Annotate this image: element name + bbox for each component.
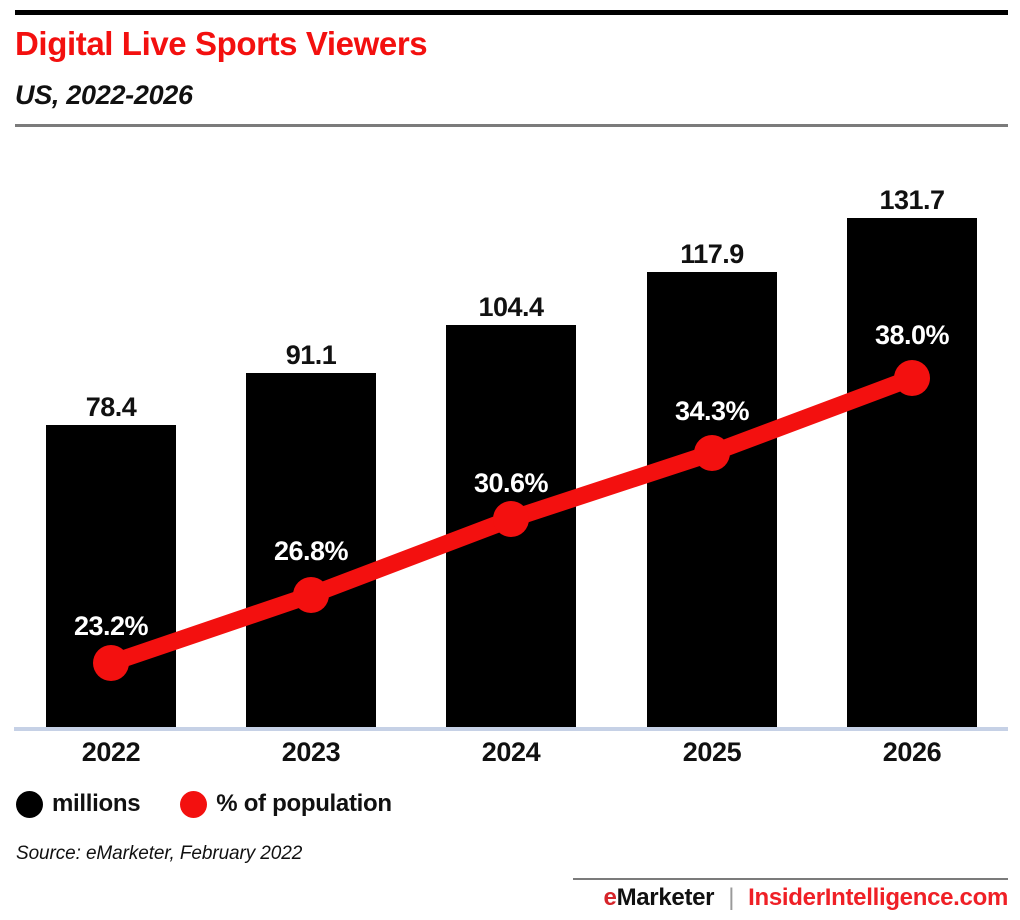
bar-2026 bbox=[847, 218, 977, 727]
bar-value-label: 91.1 bbox=[211, 340, 411, 371]
data-point-marker bbox=[894, 360, 930, 396]
data-point-marker bbox=[93, 645, 129, 681]
bar-value-label: 117.9 bbox=[612, 239, 812, 270]
percent-value-label: 23.2% bbox=[11, 611, 211, 642]
percent-value-label: 26.8% bbox=[211, 536, 411, 567]
legend-item-percent-of-population: % of population bbox=[180, 790, 391, 818]
x-axis-tick-2026: 2026 bbox=[812, 737, 1012, 768]
percent-trend-line bbox=[0, 0, 1020, 920]
percent-value-label: 38.0% bbox=[812, 320, 1012, 351]
x-axis-tick-2025: 2025 bbox=[612, 737, 812, 768]
percent-value-label: 34.3% bbox=[612, 396, 812, 427]
x-axis-tick-2024: 2024 bbox=[411, 737, 611, 768]
chart-legend: millions % of population bbox=[16, 790, 392, 818]
red-dot-icon bbox=[180, 791, 207, 818]
x-axis-tick-2023: 2023 bbox=[211, 737, 411, 768]
x-axis-line bbox=[14, 727, 1008, 731]
top-rule bbox=[15, 10, 1008, 15]
brand-site-link[interactable]: InsiderIntelligence.com bbox=[748, 884, 1008, 912]
page-title: Digital Live Sports Viewers bbox=[15, 25, 427, 63]
data-point-marker bbox=[694, 435, 730, 471]
chart-plot-area: 78.4 91.1 104.4 117.9 131.7 23.2% 26.8% … bbox=[0, 0, 1020, 920]
bar-value-label: 131.7 bbox=[812, 185, 1012, 216]
data-point-marker bbox=[493, 501, 529, 537]
legend-label-percent-of-population: % of population bbox=[216, 790, 391, 818]
bar-2025 bbox=[647, 272, 777, 727]
bar-2024 bbox=[446, 325, 576, 727]
brand-separator: | bbox=[714, 884, 748, 912]
x-axis-tick-2022: 2022 bbox=[11, 737, 211, 768]
bar-2022 bbox=[46, 425, 176, 727]
footer-branding: eMarketer | InsiderIntelligence.com bbox=[604, 884, 1009, 912]
footer-divider bbox=[573, 878, 1008, 880]
bar-2023 bbox=[246, 373, 376, 727]
legend-label-millions: millions bbox=[52, 790, 140, 818]
brand-e: e bbox=[604, 884, 617, 912]
bar-value-label: 78.4 bbox=[11, 392, 211, 423]
bar-value-label: 104.4 bbox=[411, 292, 611, 323]
brand-marketer: Marketer bbox=[617, 884, 715, 912]
page-subtitle: US, 2022-2026 bbox=[15, 80, 193, 111]
data-point-marker bbox=[293, 577, 329, 613]
legend-item-millions: millions bbox=[16, 790, 140, 818]
source-note: Source: eMarketer, February 2022 bbox=[16, 843, 302, 865]
header-divider bbox=[15, 124, 1008, 127]
percent-value-label: 30.6% bbox=[411, 468, 611, 499]
black-dot-icon bbox=[16, 791, 43, 818]
